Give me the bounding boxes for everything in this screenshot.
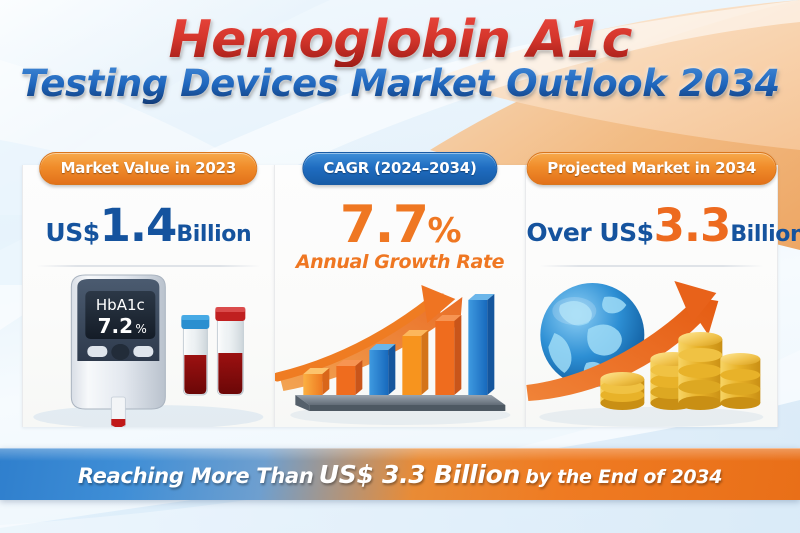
value-prefix: US$ — [45, 218, 99, 247]
card-value-projected: Over US$3.3Billion — [526, 203, 777, 248]
card-value-market-value: US$1.4Billion — [23, 203, 274, 248]
title-block: Hemoglobin A1c Testing Devices Market Ou… — [0, 14, 800, 104]
card-badge-cagr: CAGR (2024–2034) — [302, 152, 497, 185]
footer-text-a: Reaching More Than — [78, 464, 314, 488]
infographic-canvas: Hemoglobin A1c Testing Devices Market Ou… — [0, 0, 800, 533]
value-suffix: Billion — [730, 222, 800, 247]
device-reading-text: 7.2 — [98, 314, 133, 338]
stat-card-row: Market Value in 2023 US$1.4Billion — [22, 165, 778, 427]
bar-chart-illustration — [275, 267, 526, 427]
footer-banner-text: Reaching More Than US$ 3.3 Billion by th… — [78, 460, 722, 489]
card-badge-projected: Projected Market in 2034 — [526, 152, 777, 185]
card-badge-market-value: Market Value in 2023 — [40, 152, 258, 185]
value-number: 3.3 — [654, 199, 731, 252]
glucometer-illustration: HbA1c 7.2 % — [23, 267, 274, 427]
footer-banner: Reaching More Than US$ 3.3 Billion by th… — [0, 448, 800, 500]
value-number: 1.4 — [100, 199, 177, 252]
device-label-text: HbA1c — [96, 296, 145, 314]
cagr-number: 7.7 — [340, 195, 428, 255]
value-prefix: Over US$ — [526, 218, 653, 247]
stat-card-market-value-2023[interactable]: Market Value in 2023 US$1.4Billion — [22, 165, 274, 427]
device-unit-text: % — [135, 322, 146, 336]
stat-card-cagr[interactable]: CAGR (2024–2034) 7.7% Annual Growth Rate — [274, 165, 526, 427]
value-suffix: Billion — [176, 222, 251, 247]
footer-text-c: by the End of 2034 — [525, 466, 722, 488]
page-title-line2: Testing Devices Market Outlook 2034 — [0, 65, 800, 104]
page-title-line1: Hemoglobin A1c — [0, 14, 800, 67]
footer-text-b: US$ 3.3 Billion — [319, 460, 520, 489]
stat-card-projected-2034[interactable]: Projected Market in 2034 Over US$3.3Bill… — [525, 165, 778, 427]
globe-coins-illustration — [526, 267, 777, 427]
cagr-percent-sign: % — [428, 211, 461, 251]
card-value-cagr: 7.7% Annual Growth Rate — [275, 199, 526, 272]
